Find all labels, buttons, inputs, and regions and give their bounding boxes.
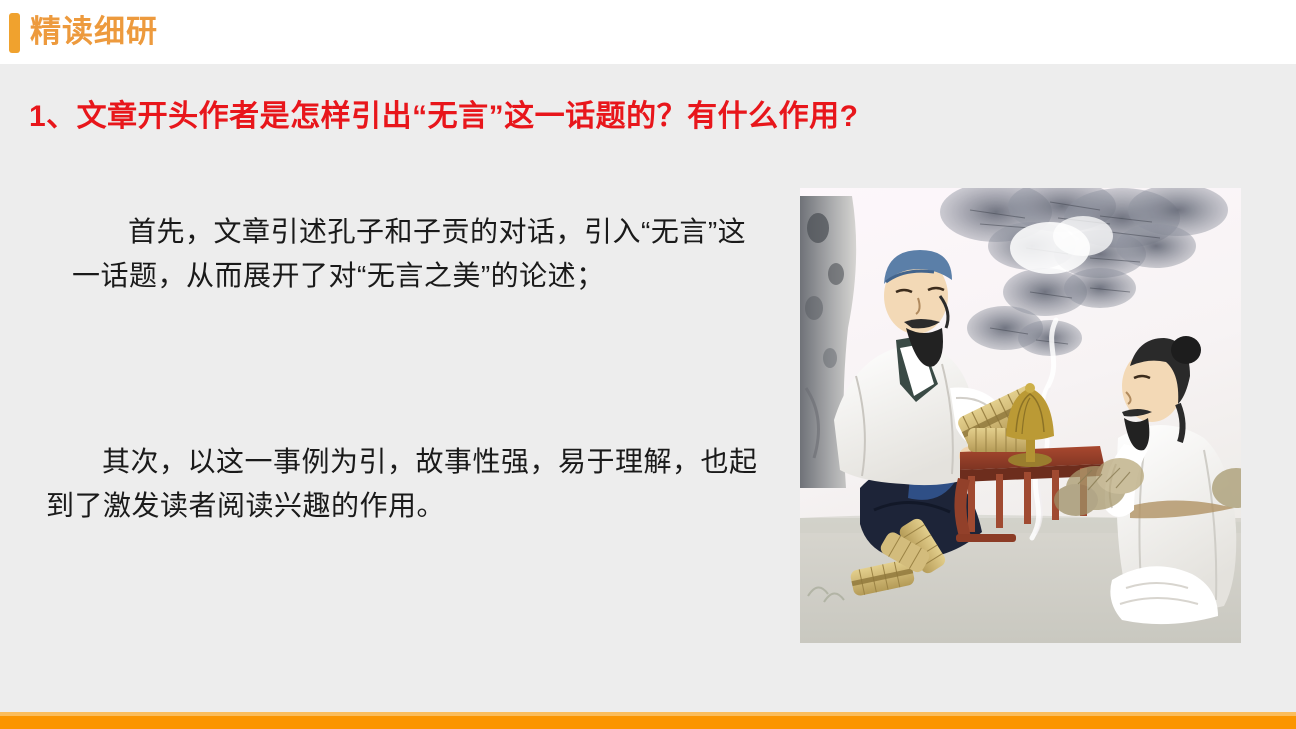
header-accent-bar-icon <box>9 13 20 53</box>
footer-bar <box>0 716 1296 729</box>
answer-paragraph-2: 其次，以这一事例为引，故事性强，易于理解，也起到了激发读者阅读兴趣的作用。 <box>46 440 758 528</box>
answer-paragraph-1: 首先，文章引述孔子和子贡的对话，引入“无言”这一话题，从而展开了对“无言之美”的… <box>72 210 758 298</box>
confucius-zigong-dialogue-painting-icon <box>800 188 1241 643</box>
question-title: 1、文章开头作者是怎样引出“无言”这一话题的？有什么作用? <box>29 96 859 138</box>
illustration-frame <box>800 188 1241 643</box>
slide-root: 精读细研 1、文章开头作者是怎样引出“无言”这一话题的？有什么作用? 首先，文章… <box>0 0 1296 729</box>
section-title: 精读细研 <box>30 8 158 56</box>
slide-header: 精读细研 <box>0 0 1296 64</box>
answer-block: 首先，文章引述孔子和子贡的对话，引入“无言”这一话题，从而展开了对“无言之美”的… <box>46 210 758 528</box>
